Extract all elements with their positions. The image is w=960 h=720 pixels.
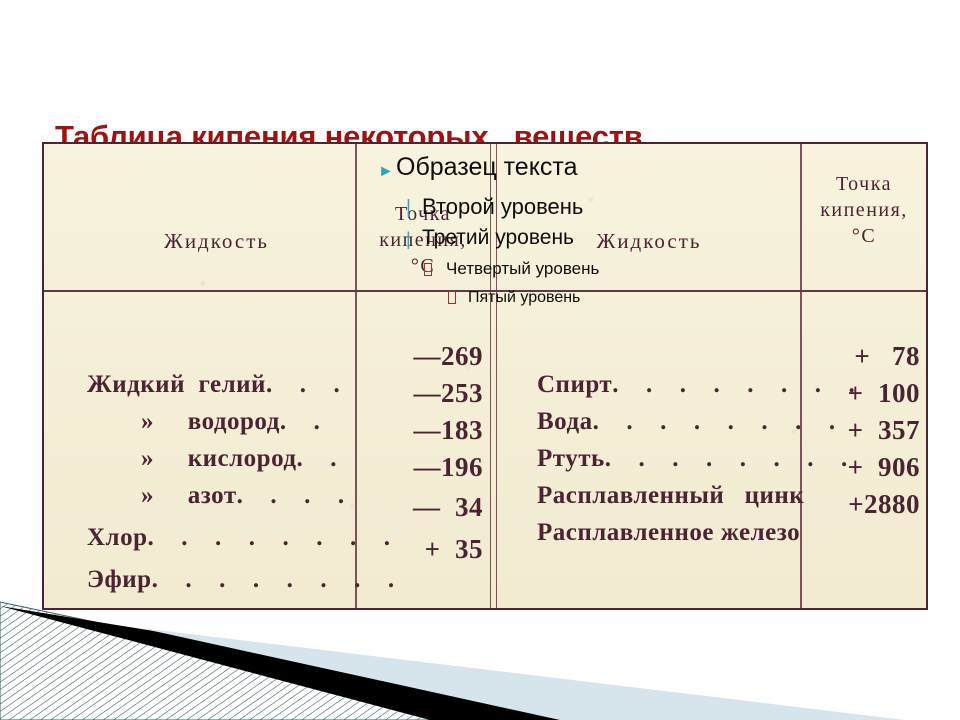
substance-value: + 906 — [800, 452, 920, 483]
content-placeholder[interactable]: ► Образец текста | Второй уровень | Трет… — [378, 152, 798, 309]
header-right-boiling-point-line3: °C — [802, 224, 926, 249]
leader-dots: . . . . . . . . — [152, 566, 400, 593]
table-row: Расплавленное железо — [510, 491, 800, 575]
dash-bullet-icon: | — [406, 194, 422, 222]
substance-value: —183 — [355, 415, 483, 446]
substance-value: + 357 — [800, 415, 920, 446]
substance-value: —253 — [355, 378, 483, 409]
substance-value: —196 — [355, 452, 483, 483]
substance-value: + 100 — [800, 378, 920, 409]
dash-bullet-icon: | — [406, 226, 422, 252]
placeholder-level-2-label: Второй уровень — [422, 193, 583, 221]
substance-value: — 34 — [355, 492, 483, 523]
substance-name: Расплавленное железо — [537, 519, 800, 546]
placeholder-level-3[interactable]: | Третий уровень — [406, 225, 798, 252]
substance-value: + 78 — [800, 341, 920, 372]
placeholder-level-1-label: Образец текста — [396, 152, 578, 182]
placeholder-level-4[interactable]: Четвертый уровень — [424, 258, 798, 281]
substance-value: + 35 — [355, 534, 483, 565]
placeholder-level-5-label: Пятый уровень — [468, 287, 580, 308]
substance-value: +2880 — [800, 489, 920, 520]
header-left-liquid: Жидкость — [84, 229, 349, 254]
missing-glyph-bullet-icon — [448, 288, 468, 309]
slide-corner-decoration — [0, 594, 960, 720]
placeholder-level-5[interactable]: Пятый уровень — [448, 287, 798, 309]
header-right-boiling-point-line1: Точка — [802, 172, 926, 197]
table-row: Эфир. . . . . . . . — [60, 538, 399, 610]
placeholder-level-2[interactable]: | Второй уровень — [406, 193, 798, 222]
substance-name: Эфир — [87, 566, 152, 593]
placeholder-level-1[interactable]: ► Образец текста — [378, 152, 798, 187]
triangle-bullet-icon: ► — [378, 157, 396, 187]
placeholder-level-3-label: Третий уровень — [422, 225, 574, 251]
missing-glyph-bullet-icon — [424, 259, 446, 281]
placeholder-level-4-label: Четвертый уровень — [446, 258, 599, 280]
substance-value: —269 — [355, 341, 483, 372]
header-right-boiling-point-line2: кипения, — [802, 198, 926, 223]
